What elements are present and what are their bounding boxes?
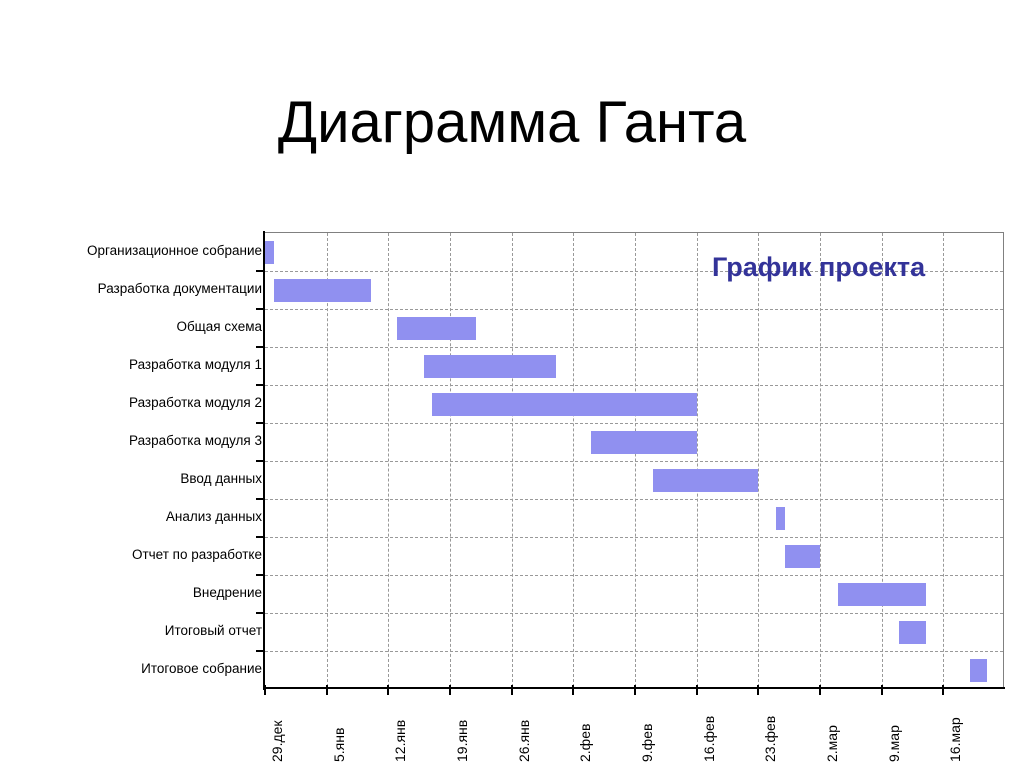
gantt-bar <box>776 507 785 530</box>
x-axis-label: 29.дек <box>269 720 285 762</box>
gantt-bar <box>970 659 988 682</box>
y-axis-label: Общая схема <box>4 320 262 334</box>
gantt-bar <box>397 317 476 340</box>
y-axis-tick <box>256 422 265 424</box>
horizontal-gridline <box>265 499 1003 500</box>
gantt-chart: График проекта Организационное собраниеР… <box>0 0 1024 768</box>
y-axis-tick <box>256 536 265 538</box>
y-axis-label: Отчет по разработке <box>4 548 262 562</box>
gantt-bar <box>424 355 556 378</box>
y-axis-tick <box>256 498 265 500</box>
vertical-gridline <box>820 233 821 687</box>
x-axis-tick <box>696 685 698 695</box>
y-axis-label: Организационное собрание <box>4 244 262 258</box>
x-axis-label: 16.мар <box>947 717 963 762</box>
gantt-bar <box>785 545 820 568</box>
y-axis-label: Итоговое собрание <box>4 662 262 676</box>
chart-annotation-label: График проекта <box>712 252 925 283</box>
x-axis-label: 2.мар <box>824 725 840 762</box>
x-axis-tick <box>634 685 636 695</box>
y-axis-tick <box>256 650 265 652</box>
gantt-bar <box>265 241 274 264</box>
x-axis-tick <box>449 685 451 695</box>
x-axis-label: 23.фев <box>762 716 778 762</box>
vertical-gridline <box>697 233 698 687</box>
x-axis-tick <box>819 685 821 695</box>
x-axis-labels: 29.дек5.янв12.янв19.янв26.янв2.фев9.фев1… <box>0 690 1024 768</box>
x-axis-tick <box>881 685 883 695</box>
vertical-gridline <box>573 233 574 687</box>
x-axis-label: 19.янв <box>454 720 470 762</box>
x-axis-tick <box>757 685 759 695</box>
horizontal-gridline <box>265 613 1003 614</box>
vertical-gridline <box>758 233 759 687</box>
y-axis-tick <box>256 308 265 310</box>
y-axis-tick <box>256 270 265 272</box>
horizontal-gridline <box>265 651 1003 652</box>
y-axis-tick <box>256 612 265 614</box>
y-axis-label: Разработка модуля 3 <box>4 434 262 448</box>
x-axis-label: 12.янв <box>392 720 408 762</box>
x-axis-label: 5.янв <box>331 728 347 762</box>
x-axis-label: 9.фев <box>639 724 655 762</box>
horizontal-gridline <box>265 575 1003 576</box>
y-axis-tick <box>256 384 265 386</box>
y-axis-label: Ввод данных <box>4 472 262 486</box>
gantt-bar <box>591 431 697 454</box>
x-axis-label: 2.фев <box>577 724 593 762</box>
y-axis-label: Разработка модуля 1 <box>4 358 262 372</box>
y-axis-label: Анализ данных <box>4 510 262 524</box>
x-axis-label: 26.янв <box>516 720 532 762</box>
y-axis-labels: Организационное собраниеРазработка докум… <box>0 232 262 688</box>
chart-plot-area <box>264 232 1004 688</box>
x-axis-tick <box>572 685 574 695</box>
horizontal-gridline <box>265 309 1003 310</box>
vertical-gridline <box>882 233 883 687</box>
x-axis-tick <box>264 685 266 695</box>
y-axis-tick <box>256 460 265 462</box>
x-axis-tick <box>511 685 513 695</box>
gantt-bar <box>653 469 759 492</box>
y-axis-label: Итоговый отчет <box>4 624 262 638</box>
x-axis-label: 9.мар <box>886 725 902 762</box>
horizontal-gridline <box>265 537 1003 538</box>
y-axis-tick <box>256 346 265 348</box>
y-axis-label: Разработка модуля 2 <box>4 396 262 410</box>
vertical-gridline <box>943 233 944 687</box>
gantt-bar <box>432 393 696 416</box>
x-axis-tick <box>326 685 328 695</box>
horizontal-gridline <box>265 423 1003 424</box>
vertical-gridline <box>388 233 389 687</box>
gantt-bar <box>274 279 371 302</box>
horizontal-gridline <box>265 385 1003 386</box>
gantt-bar <box>838 583 926 606</box>
x-axis-label: 16.фев <box>701 716 717 762</box>
horizontal-gridline <box>265 461 1003 462</box>
horizontal-gridline <box>265 347 1003 348</box>
vertical-gridline <box>635 233 636 687</box>
y-axis-tick <box>256 574 265 576</box>
x-axis-tick <box>942 685 944 695</box>
y-axis-label: Разработка документации <box>4 282 262 296</box>
vertical-gridline <box>450 233 451 687</box>
vertical-gridline <box>512 233 513 687</box>
gantt-bar <box>899 621 925 644</box>
x-axis-tick <box>387 685 389 695</box>
y-axis-label: Внедрение <box>4 586 262 600</box>
